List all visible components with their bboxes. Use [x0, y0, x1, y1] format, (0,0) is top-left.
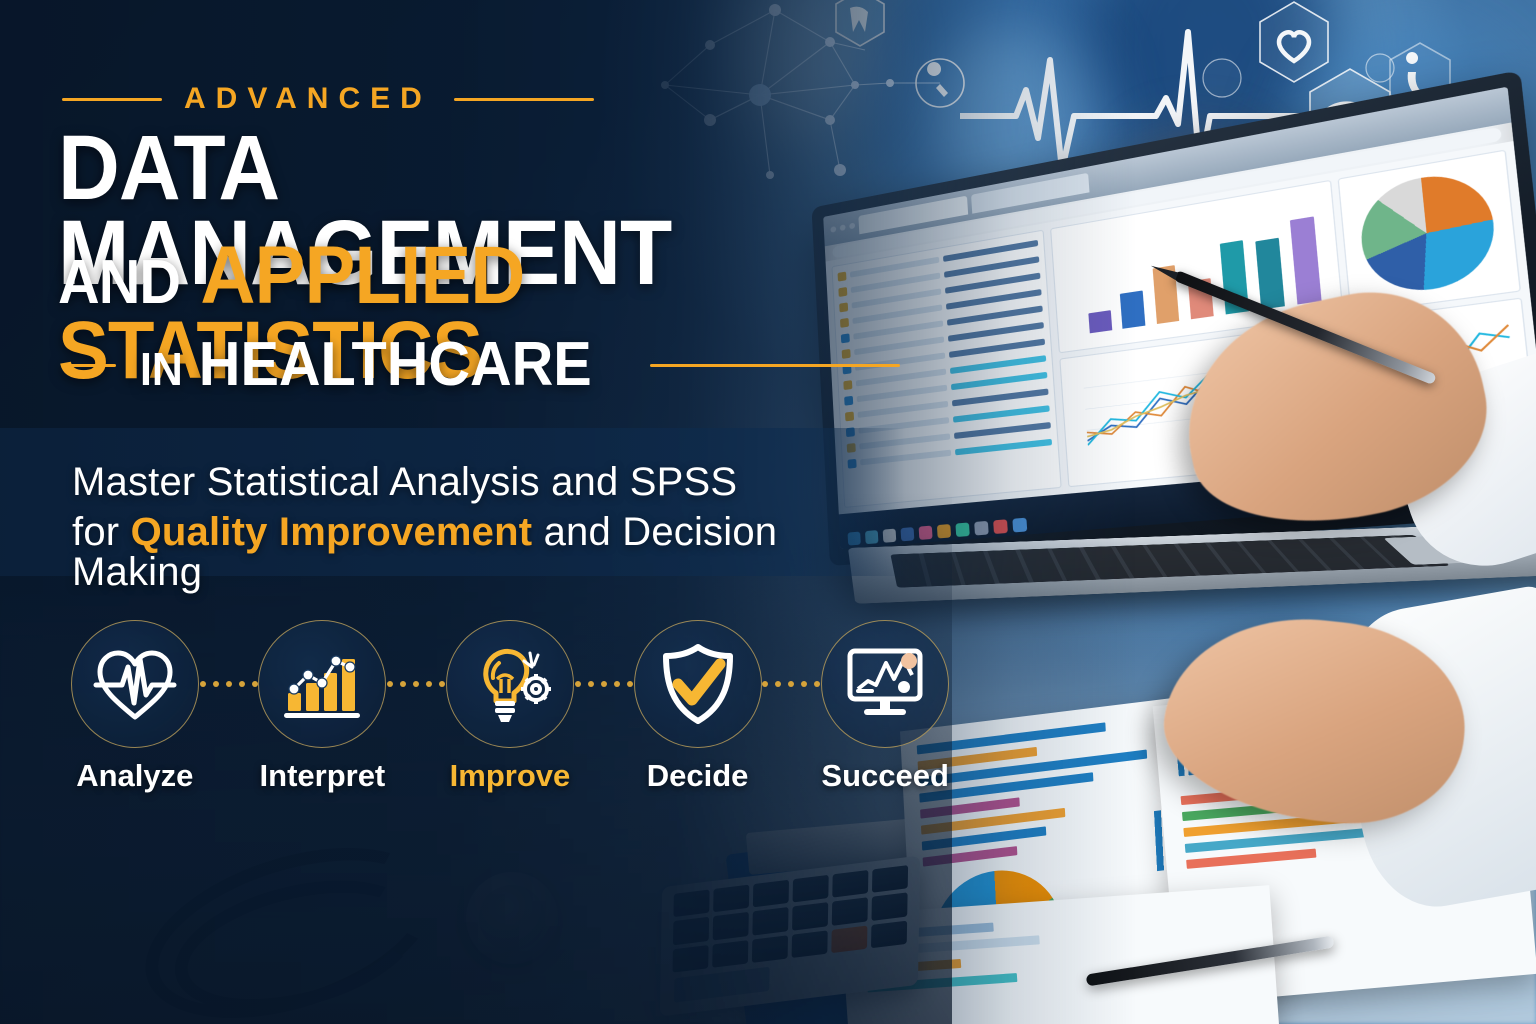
- step-connector: [200, 620, 258, 748]
- step-label: Improve: [450, 758, 571, 794]
- step-connector: [575, 620, 633, 748]
- step-connector: [387, 620, 445, 748]
- page-title-line3: IN HEALTHCARE: [140, 334, 592, 396]
- title-line3-row: IN HEALTHCARE: [62, 334, 900, 396]
- step-icon-ring: [258, 620, 386, 748]
- eyebrow-rule-left: [62, 98, 162, 101]
- step-analyze[interactable]: Analyze: [70, 620, 200, 794]
- shield-check-icon: [658, 642, 738, 726]
- step-icon-ring: [821, 620, 949, 748]
- subtitle-prefix: for: [72, 510, 131, 554]
- title-healthcare: HEALTHCARE: [199, 330, 592, 399]
- eyebrow-label: ADVANCED: [184, 84, 432, 114]
- step-icon-ring: [634, 620, 762, 748]
- step-interpret[interactable]: Interpret: [258, 620, 388, 794]
- headline-block: ADVANCED DATA MANAGEMENT AND APPLIED STA…: [0, 0, 900, 600]
- step-succeed[interactable]: Succeed: [820, 620, 950, 794]
- step-label: Succeed: [821, 758, 949, 794]
- step-icon-ring: [71, 620, 199, 748]
- eyebrow-rule-right: [454, 98, 594, 101]
- subtitle-line1: Master Statistical Analysis and SPSS: [72, 462, 737, 502]
- title-rule-right: [650, 364, 900, 367]
- step-decide[interactable]: Decide: [633, 620, 763, 794]
- lightbulb-gear-icon: [466, 643, 554, 725]
- step-connector: [762, 620, 820, 748]
- title-rule-left: [62, 364, 116, 367]
- step-improve[interactable]: Improve: [445, 620, 575, 794]
- promo-banner: ADVANCED DATA MANAGEMENT AND APPLIED STA…: [0, 0, 1536, 1024]
- title-in-word: IN: [140, 343, 183, 395]
- step-label: Decide: [647, 758, 749, 794]
- monitor-chart-icon: [842, 645, 928, 723]
- step-label: Analyze: [76, 758, 193, 794]
- process-steps: Analyze: [70, 620, 950, 800]
- subtitle-highlight: Quality Improvement: [131, 510, 533, 554]
- step-label: Interpret: [260, 758, 386, 794]
- bar-chart-icon: [280, 645, 364, 723]
- eyebrow-row: ADVANCED: [62, 84, 594, 114]
- heartbeat-icon: [92, 645, 178, 723]
- step-icon-ring: [446, 620, 574, 748]
- subtitle-line2: for Quality Improvement and Decision Mak…: [72, 512, 900, 592]
